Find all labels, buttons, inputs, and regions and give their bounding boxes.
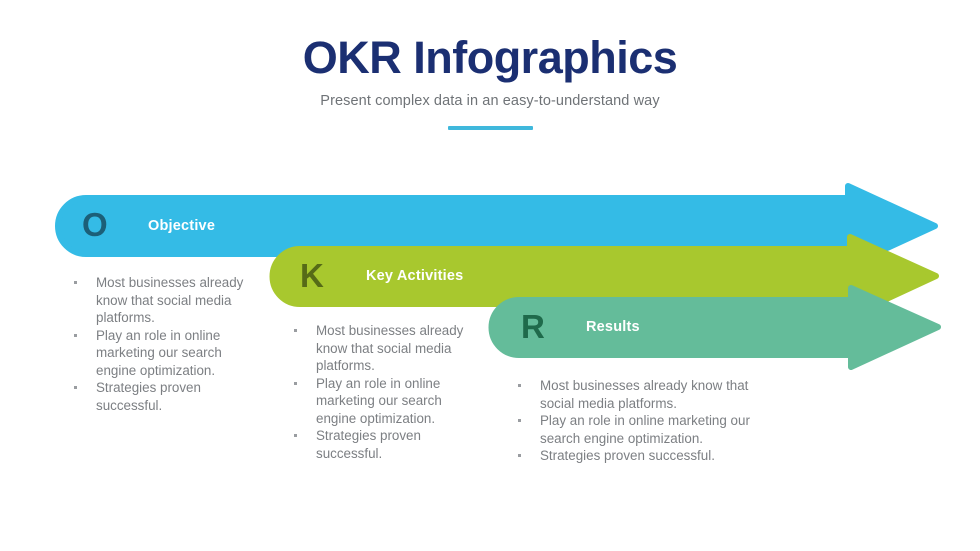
bullets-key-activities: Most businesses already know that social… bbox=[290, 322, 470, 462]
list-item: Strategies proven successful. bbox=[514, 447, 774, 465]
arrow-key-activities-letter: K bbox=[300, 259, 324, 292]
arrow-objective-letter: O bbox=[82, 208, 108, 241]
okr-infographic-slide: OKR Infographics Present complex data in… bbox=[0, 0, 980, 551]
arrow-results-letter: R bbox=[521, 310, 545, 343]
bullet-text: Strategies proven successful. bbox=[316, 428, 421, 461]
list-item: Strategies proven successful. bbox=[70, 379, 250, 414]
bullet-text: Most businesses already know that social… bbox=[540, 378, 748, 411]
list-item: Most businesses already know that social… bbox=[514, 377, 774, 412]
bullet-dot-icon bbox=[74, 334, 77, 337]
list-item: Strategies proven successful. bbox=[290, 427, 470, 462]
slide-header: OKR Infographics Present complex data in… bbox=[0, 34, 980, 130]
bullet-dot-icon bbox=[74, 386, 77, 389]
bullet-dot-icon bbox=[518, 454, 521, 457]
arrow-key-activities-label: Key Activities bbox=[366, 268, 463, 284]
page-subtitle: Present complex data in an easy-to-under… bbox=[0, 93, 980, 109]
arrow-results-label: Results bbox=[586, 319, 640, 335]
bullet-dot-icon bbox=[294, 434, 297, 437]
bullet-dot-icon bbox=[294, 329, 297, 332]
bullet-text: Most businesses already know that social… bbox=[96, 275, 243, 325]
arrow-results-path bbox=[492, 288, 938, 367]
bullet-text: Most businesses already know that social… bbox=[316, 323, 463, 373]
bullets-results: Most businesses already know that social… bbox=[514, 377, 774, 465]
title-accent-bar bbox=[448, 126, 533, 130]
bullet-dot-icon bbox=[518, 419, 521, 422]
arrow-results-shape bbox=[491, 300, 946, 355]
list-item: Most businesses already know that social… bbox=[70, 274, 250, 327]
bullet-dot-icon bbox=[294, 382, 297, 385]
bullet-list-objective: Most businesses already know that social… bbox=[70, 274, 250, 414]
list-item: Play an role in online marketing our sea… bbox=[70, 327, 250, 380]
bullets-objective: Most businesses already know that social… bbox=[70, 274, 250, 414]
bullet-text: Play an role in online marketing our sea… bbox=[96, 328, 222, 378]
arrow-objective-label: Objective bbox=[148, 218, 215, 234]
bullet-dot-icon bbox=[518, 384, 521, 387]
bullet-text: Play an role in online marketing our sea… bbox=[316, 376, 442, 426]
bullet-list-key-activities: Most businesses already know that social… bbox=[290, 322, 470, 462]
page-title: OKR Infographics bbox=[0, 34, 980, 83]
list-item: Play an role in online marketing our sea… bbox=[290, 375, 470, 428]
list-item: Most businesses already know that social… bbox=[290, 322, 470, 375]
list-item: Play an role in online marketing our sea… bbox=[514, 412, 774, 447]
bullet-dot-icon bbox=[74, 281, 77, 284]
bullet-text: Strategies proven successful. bbox=[540, 448, 715, 463]
bullet-text: Strategies proven successful. bbox=[96, 380, 201, 413]
bullet-list-results: Most businesses already know that social… bbox=[514, 377, 774, 465]
bullet-text: Play an role in online marketing our sea… bbox=[540, 413, 750, 446]
